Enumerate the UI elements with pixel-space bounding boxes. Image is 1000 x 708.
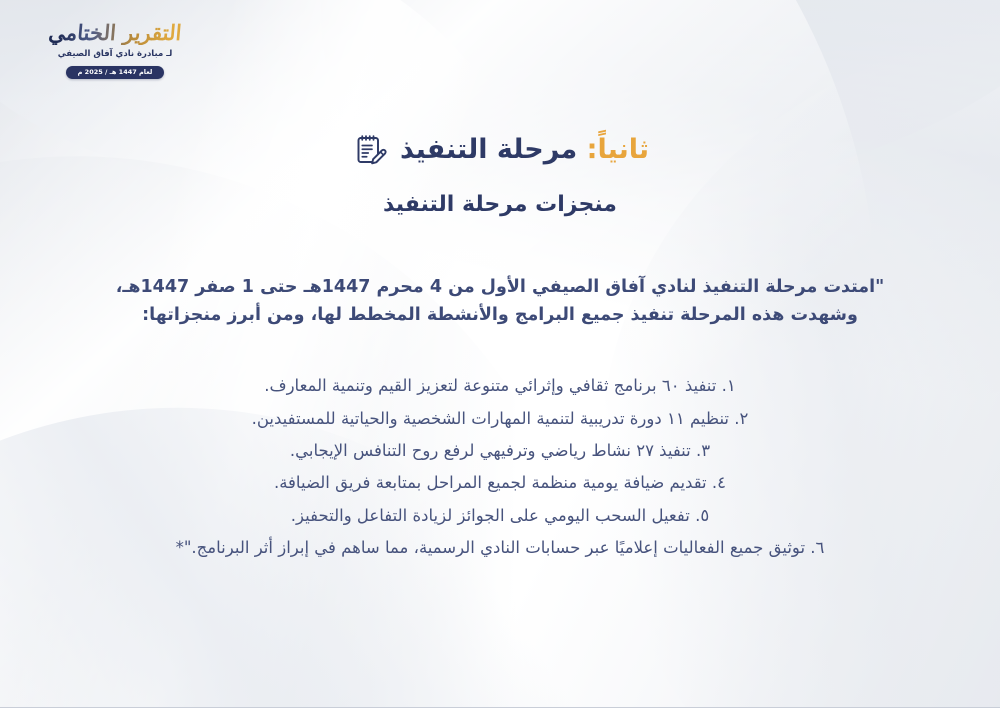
list-item: ٤. تقديم ضيافة يومية منظمة لجميع المراحل… — [56, 467, 944, 499]
logo-subtitle: لـ مبادرة نادي آفاق الصيفي — [40, 49, 190, 59]
section-title-main: مرحلة التنفيذ — [400, 134, 577, 165]
list-item: ٣. تنفيذ ٢٧ نشاط رياضي وترفيهي لرفع روح … — [56, 435, 944, 467]
list-item: ٥. تفعيل السحب اليومي على الجوائز لزيادة… — [56, 499, 944, 531]
section-title-row: ثانياً: مرحلة التنفيذ — [56, 132, 944, 168]
section-title: ثانياً: مرحلة التنفيذ — [400, 133, 649, 167]
logo-year-badge: لعام 1447 هـ / 2025 م — [66, 66, 165, 80]
report-logo: التقرير الختامي لـ مبادرة نادي آفاق الصي… — [40, 22, 190, 79]
list-item: ٦. توثيق جميع الفعاليات إعلاميًا عبر حسا… — [56, 532, 944, 564]
section-ordinal: ثانياً: — [587, 134, 649, 165]
notepad-pencil-icon — [351, 132, 387, 168]
report-slide: التقرير الختامي لـ مبادرة نادي آفاق الصي… — [0, 0, 1000, 708]
list-item: ١. تنفيذ ٦٠ برنامج ثقافي وإثرائي متنوعة … — [56, 370, 944, 402]
list-item: ٢. تنظيم ١١ دورة تدريبية لتنمية المهارات… — [56, 402, 944, 434]
achievements-list: ١. تنفيذ ٦٠ برنامج ثقافي وإثرائي متنوعة … — [56, 370, 944, 565]
logo-calligraphy-title: التقرير الختامي — [39, 22, 191, 45]
intro-paragraph: "امتدت مرحلة التنفيذ لنادي آفاق الصيفي ا… — [85, 273, 915, 330]
slide-content: ثانياً: مرحلة التنفيذ منجزات مرحلة التنف… — [0, 132, 1000, 564]
section-subtitle: منجزات مرحلة التنفيذ — [56, 192, 944, 217]
